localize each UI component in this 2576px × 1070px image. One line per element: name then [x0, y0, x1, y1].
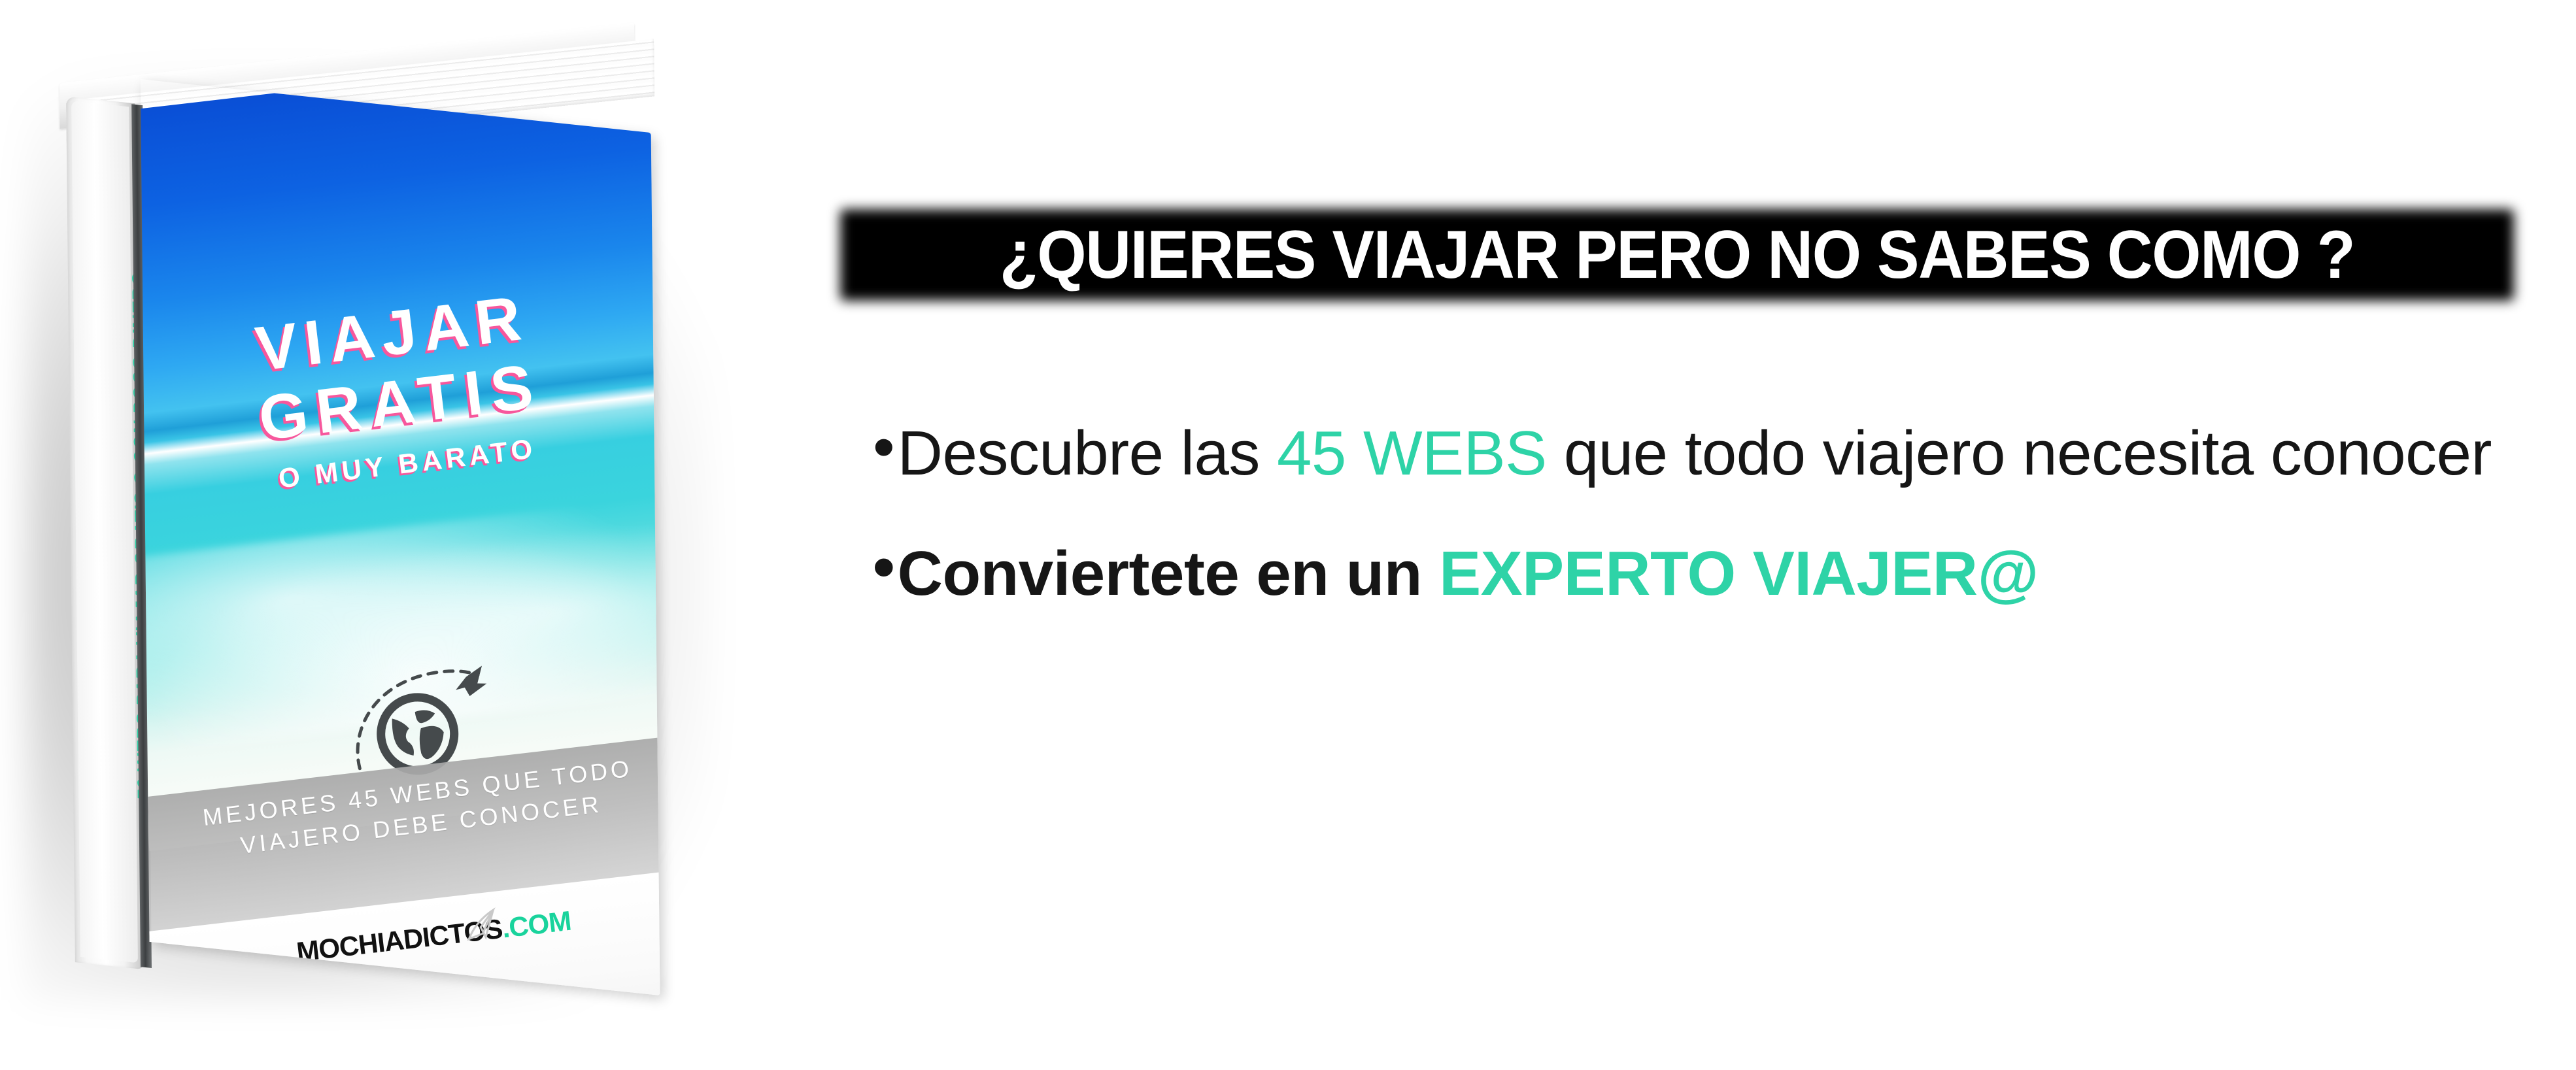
benefit-item-2: • Conviertete en un EXPERTO VIAJER@: [873, 539, 2547, 609]
benefit-2-highlight: EXPERTO VIAJER@: [1439, 539, 2039, 609]
headline-text: ¿QUIERES VIAJAR PERO NO SABES COMO ?: [899, 209, 2456, 301]
promo-copy-panel: ¿QUIERES VIAJAR PERO NO SABES COMO ? • D…: [817, 0, 2576, 1070]
benefit-2-part1: Conviertete en un: [898, 539, 1439, 609]
bullet-marker-icon: •: [873, 418, 895, 476]
benefit-1-highlight: 45 WEBS: [1277, 418, 1547, 488]
benefit-item-1: • Descubre las 45 WEBS que todo viajero …: [873, 418, 2547, 489]
benefit-1-part2: que todo viajero necesita conocer: [1547, 418, 2492, 488]
headline-banner: ¿QUIERES VIAJAR PERO NO SABES COMO ?: [840, 209, 2514, 301]
brand-logo: MOCHIADICTOS.COM: [295, 905, 573, 968]
book-3d-body: 50 WEBS PARA VIAJAR GRATIS O CON POCO DI…: [47, 42, 750, 1016]
book-spine-surface: 50 WEBS PARA VIAJAR GRATIS O CON POCO DI…: [71, 101, 138, 963]
bullet-marker-icon: •: [873, 539, 895, 596]
benefit-item-1-text: Descubre las 45 WEBS que todo viajero ne…: [898, 418, 2492, 489]
benefit-item-2-text: Conviertete en un EXPERTO VIAJER@: [898, 539, 2039, 609]
benefit-list: • Descubre las 45 WEBS que todo viajero …: [873, 418, 2547, 609]
benefit-1-part1: Descubre las: [898, 418, 1277, 488]
paper-plane-icon: [462, 901, 512, 945]
ebook-mockup: 50 WEBS PARA VIAJAR GRATIS O CON POCO DI…: [0, 0, 817, 1070]
book-front-cover: VIAJAR GRATIS O MUY BARATO MEJORES 45 WE…: [141, 79, 660, 995]
